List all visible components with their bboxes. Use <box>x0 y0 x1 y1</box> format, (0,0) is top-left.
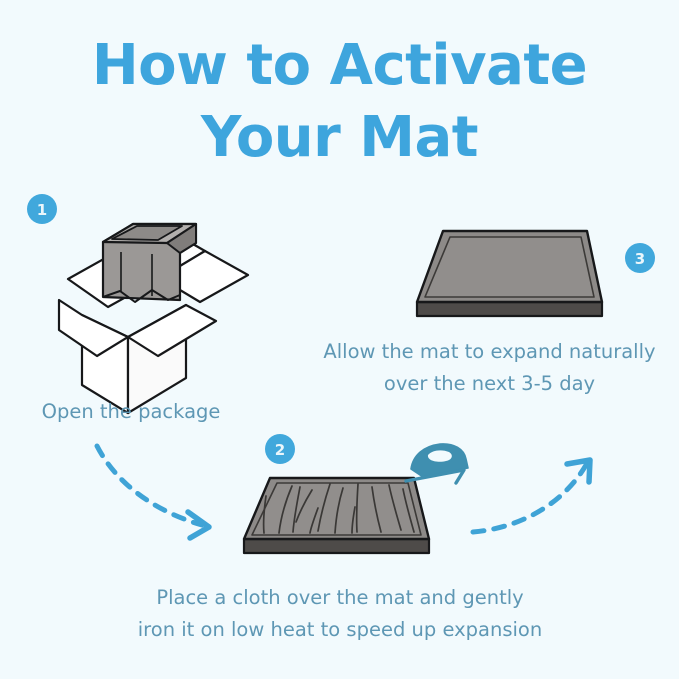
iron-icon <box>406 444 468 483</box>
step-1-badge-number: 1 <box>37 201 47 219</box>
illustration-scene: 1 <box>0 0 679 679</box>
arrow-step-2-to-step-3 <box>473 460 590 532</box>
infographic-poster: How to Activate Your Mat <box>0 0 679 679</box>
flat-mat-icon <box>417 231 602 316</box>
wrinkled-mat-icon <box>244 478 429 553</box>
step-3-badge-number: 3 <box>635 250 645 268</box>
arrow-step-1-to-step-2 <box>97 446 209 538</box>
step-2-badge-number: 2 <box>275 441 285 459</box>
open-cardboard-box-with-mat-icon <box>59 224 248 413</box>
